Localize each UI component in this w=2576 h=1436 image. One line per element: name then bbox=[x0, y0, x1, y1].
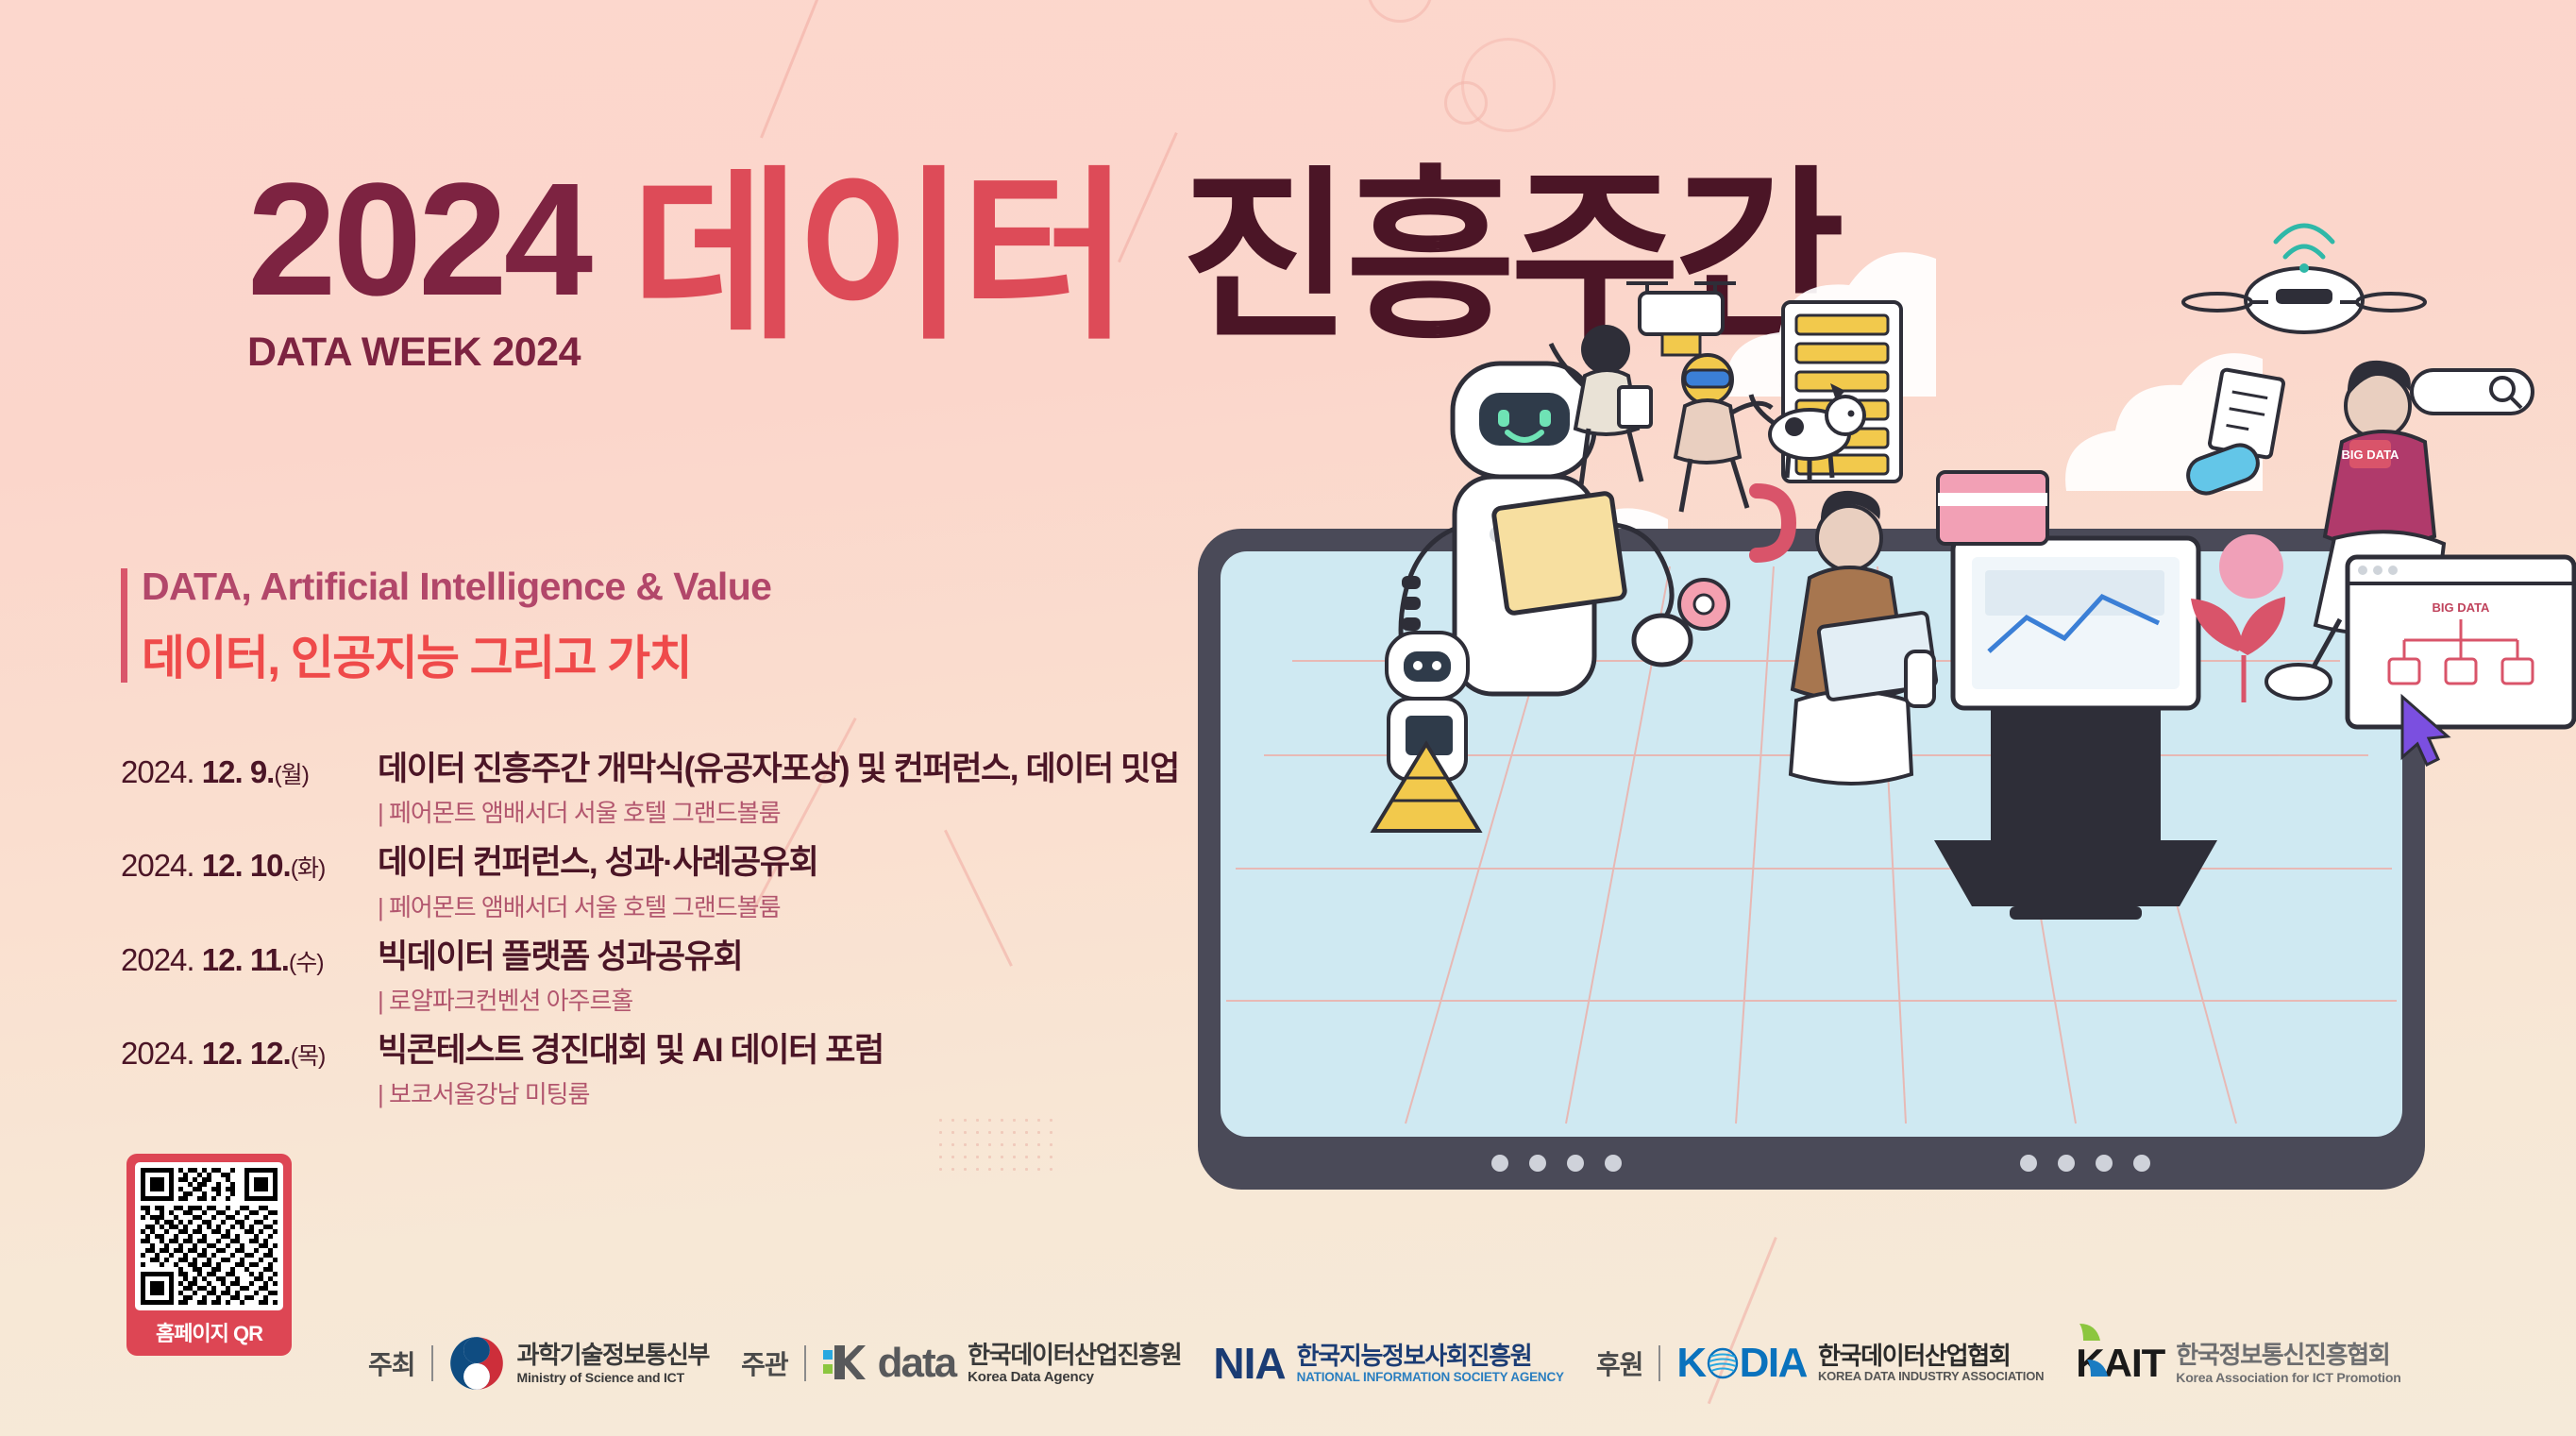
schedule-title: 데이터 진흥주간 개막식(유공자포상) 및 컨퍼런스, 데이터 밋업 bbox=[378, 751, 1179, 788]
year-and-subtitle-block: 2024 DATA WEEK 2024 bbox=[247, 165, 589, 376]
ministry-name-en: Ministry of Science and ICT bbox=[517, 1370, 710, 1385]
kda-name-block: 한국데이터산업진흥원 Korea Data Agency bbox=[968, 1342, 1181, 1385]
date-month: 12. bbox=[202, 1036, 243, 1071]
schedule-title: 데이터 컨퍼런스, 성과·사례공유회 bbox=[378, 844, 817, 882]
date-day: 9. bbox=[250, 754, 275, 789]
footer-group-sponsor: 후원 K DIA 한국데이터산업협회 KOREA DATA INDUSTRY A… bbox=[1596, 1340, 2044, 1387]
nia-name-block: 한국지능정보사회진흥원 NATIONAL INFORMATION SOCIETY… bbox=[1297, 1343, 1564, 1385]
schedule-venue: | 보코서울강남 미팅룸 bbox=[378, 1075, 884, 1110]
kdata-logo: data 한국데이터산업진흥원 Korea Data Agency bbox=[822, 1340, 1182, 1387]
kda-name-en: Korea Data Agency bbox=[968, 1369, 1181, 1385]
schedule-venue: | 페어몬트 앰배서더 서울 호텔 그랜드볼룸 bbox=[378, 888, 817, 923]
footer-label-organizer: 주관 bbox=[741, 1344, 788, 1382]
date-month: 12. bbox=[202, 754, 243, 789]
kodia-globe-icon bbox=[1706, 1346, 1740, 1380]
footer-group-organizer: 주관 data 한국데이터산업진흥원 Korea Data Agency bbox=[741, 1340, 1181, 1387]
schedule-date: 2024. 12. 10.(화) bbox=[121, 844, 378, 884]
date-day: 10. bbox=[250, 848, 291, 883]
subtitle-block: DATA, Artificial Intelligence & Value 데이… bbox=[121, 565, 771, 688]
kdata-wordmark: data bbox=[878, 1340, 955, 1387]
schedule-date: 2024. 12. 9.(월) bbox=[121, 751, 378, 790]
kodia-dia-letters: DIA bbox=[1740, 1340, 1807, 1387]
title-word-data: 데이터 bbox=[631, 165, 1124, 350]
schedule-date: 2024. 12. 11.(수) bbox=[121, 938, 378, 978]
schedule-venue: | 로얄파크컨벤션 아주르홀 bbox=[378, 982, 742, 1017]
date-month: 12. bbox=[202, 848, 243, 883]
date-year: 2024. bbox=[121, 1036, 194, 1071]
kait-swoosh-icon bbox=[2072, 1322, 2130, 1378]
qr-caption: 홈페이지 QR bbox=[135, 1310, 283, 1356]
kodia-name-en: KOREA DATA INDUSTRY ASSOCIATION bbox=[1818, 1370, 2044, 1384]
illustration-scene: BIG DATA BIG DATA bbox=[1122, 0, 2576, 1322]
schedule-text: 데이터 진흥주간 개막식(유공자포상) 및 컨퍼런스, 데이터 밋업 | 페어몬… bbox=[378, 751, 1179, 829]
kait-name-kr: 한국정보통신진흥협회 bbox=[2176, 1342, 2400, 1369]
nia-wordmark: NIA bbox=[1213, 1338, 1285, 1389]
date-weekday: (목) bbox=[291, 1043, 326, 1070]
ministry-of-science-taegeuk-logo bbox=[449, 1336, 517, 1391]
footer-group-nia: NIA 한국지능정보사회진흥원 NATIONAL INFORMATION SOC… bbox=[1213, 1338, 1564, 1389]
subtitle-korean: 데이터, 인공지능 그리고 가치 bbox=[142, 620, 771, 688]
schedule-row: 2024. 12. 9.(월) 데이터 진흥주간 개막식(유공자포상) 및 컨퍼… bbox=[121, 751, 1179, 829]
nia-name-kr: 한국지능정보사회진흥원 bbox=[1297, 1343, 1564, 1370]
nia-name-en: NATIONAL INFORMATION SOCIETY AGENCY bbox=[1297, 1370, 1564, 1385]
qr-code-block[interactable]: 홈페이지 QR bbox=[126, 1154, 292, 1356]
kait-name-block: 한국정보통신진흥협회 Korea Association for ICT Pro… bbox=[2176, 1342, 2400, 1384]
search-bar-icon bbox=[2412, 370, 2533, 414]
schedule-text: 데이터 컨퍼런스, 성과·사례공유회 | 페어몬트 앰배서더 서울 호텔 그랜드… bbox=[378, 844, 817, 922]
date-weekday: (수) bbox=[289, 950, 324, 976]
date-weekday: (화) bbox=[291, 855, 326, 882]
kodia-name-kr: 한국데이터산업협회 bbox=[1818, 1343, 2044, 1370]
date-year: 2024. bbox=[121, 942, 194, 977]
schedule-title: 빅콘테스트 경진대회 및 AI 데이터 포럼 bbox=[378, 1032, 884, 1070]
footer-group-host: 주최 과학기술정보통신부 Ministry of Science and ICT bbox=[368, 1336, 709, 1391]
gear-icon bbox=[1679, 580, 1728, 629]
date-day: 11. bbox=[250, 942, 289, 977]
schedule-row: 2024. 12. 11.(수) 빅데이터 플랫폼 성과공유회 | 로얄파크컨벤… bbox=[121, 938, 1179, 1017]
kodia-k-letter: K bbox=[1676, 1340, 1705, 1387]
schedule-title: 빅데이터 플랫폼 성과공유회 bbox=[378, 938, 742, 976]
footer-label-sponsor: 후원 bbox=[1596, 1344, 1643, 1382]
drone-taxi-icon bbox=[2183, 226, 2425, 332]
schedule-text: 빅데이터 플랫폼 성과공유회 | 로얄파크컨벤션 아주르홀 bbox=[378, 938, 742, 1017]
kodia-name-block: 한국데이터산업협회 KOREA DATA INDUSTRY ASSOCIATIO… bbox=[1818, 1343, 2044, 1384]
date-weekday: (월) bbox=[274, 762, 309, 788]
kait-name-en: Korea Association for ICT Promotion bbox=[2176, 1370, 2400, 1385]
schedule-date: 2024. 12. 12.(목) bbox=[121, 1032, 378, 1072]
ministry-name-block: 과학기술정보통신부 Ministry of Science and ICT bbox=[517, 1342, 710, 1384]
ministry-name-kr: 과학기술정보통신부 bbox=[517, 1342, 710, 1369]
drone-icon bbox=[1626, 283, 1736, 355]
kodia-logo: K DIA bbox=[1676, 1340, 1807, 1387]
svg-text:BIG DATA: BIG DATA bbox=[2342, 448, 2400, 462]
decorative-ball bbox=[2219, 534, 2283, 599]
schedule-venue: | 페어몬트 앰배서더 서울 호텔 그랜드볼룸 bbox=[378, 794, 1179, 829]
data-week-text: DATA WEEK 2024 bbox=[247, 329, 589, 376]
kait-logo: KAIT bbox=[2076, 1341, 2176, 1386]
date-year: 2024. bbox=[121, 848, 194, 883]
divider bbox=[804, 1345, 806, 1381]
wifi-icon bbox=[2276, 226, 2332, 273]
schedule-row: 2024. 12. 12.(목) 빅콘테스트 경진대회 및 AI 데이터 포럼 … bbox=[121, 1032, 1179, 1110]
year-text: 2024 bbox=[247, 165, 589, 314]
kdata-k-mark-icon bbox=[822, 1342, 866, 1385]
date-year: 2024. bbox=[121, 754, 194, 789]
svg-text:BIG DATA: BIG DATA bbox=[2433, 600, 2491, 615]
qr-code-icon[interactable] bbox=[135, 1162, 283, 1310]
divider bbox=[1658, 1345, 1660, 1381]
footer-label-host: 주최 bbox=[368, 1344, 415, 1382]
date-day: 12. bbox=[250, 1036, 291, 1071]
divider bbox=[431, 1345, 433, 1381]
schedule-list: 2024. 12. 9.(월) 데이터 진흥주간 개막식(유공자포상) 및 컨퍼… bbox=[121, 751, 1179, 1125]
footer-group-kait: KAIT 한국정보통신진흥협회 Korea Association for IC… bbox=[2076, 1341, 2400, 1386]
subtitle-english: DATA, Artificial Intelligence & Value bbox=[142, 565, 771, 609]
schedule-row: 2024. 12. 10.(화) 데이터 컨퍼런스, 성과·사례공유회 | 페어… bbox=[121, 844, 1179, 922]
footer-logos: 주최 과학기술정보통신부 Ministry of Science and ICT… bbox=[368, 1336, 2401, 1391]
kda-name-kr: 한국데이터산업진흥원 bbox=[968, 1342, 1181, 1369]
date-month: 12. bbox=[202, 942, 243, 977]
credit-card-icon bbox=[1938, 472, 2047, 544]
schedule-text: 빅콘테스트 경진대회 및 AI 데이터 포럼 | 보코서울강남 미팅룸 bbox=[378, 1032, 884, 1110]
